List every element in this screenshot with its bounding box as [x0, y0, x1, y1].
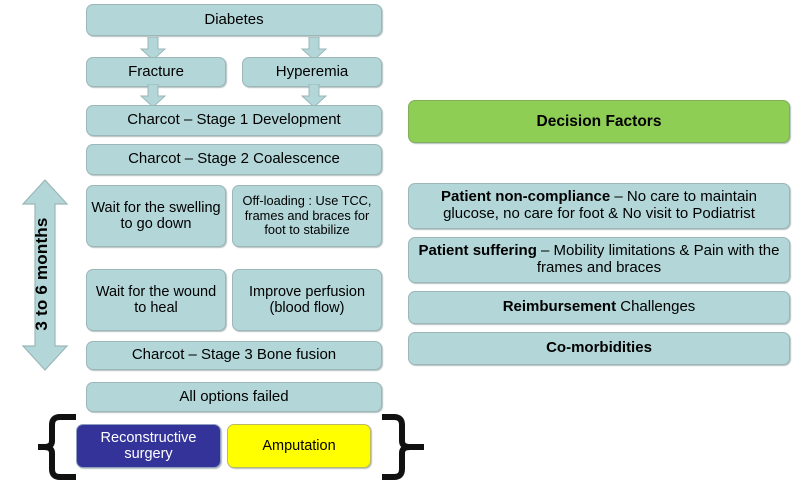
node-wait-swelling-label: Wait for the swelling to go down — [91, 200, 221, 232]
node-all-options-failed-label: All options failed — [179, 389, 288, 406]
node-improve-perfusion[interactable]: Improve perfusion (blood flow) — [232, 269, 382, 331]
node-off-loading[interactable]: Off-loading : Use TCC, frames and braces… — [232, 185, 382, 247]
factor-co-morbidities-text: Co-morbidities — [546, 340, 652, 357]
left-curly-brace — [38, 414, 80, 480]
node-wait-wound-label: Wait for the wound to heal — [91, 284, 221, 316]
factor-reimbursement-challenges[interactable]: Reimbursement Challenges — [408, 291, 790, 324]
factor-1-bold: Patient non-compliance — [441, 188, 610, 205]
factor-patient-non-compliance[interactable]: Patient non-compliance – No care to main… — [408, 183, 790, 229]
duration-double-arrow: 3 to 6 months — [20, 178, 70, 372]
node-charcot-stage-3-label: Charcot – Stage 3 Bone fusion — [132, 347, 336, 364]
factor-reimbursement-challenges-text: Reimbursement Challenges — [503, 299, 696, 316]
node-charcot-stage-1[interactable]: Charcot – Stage 1 Development — [86, 105, 382, 136]
node-hyperemia-label: Hyperemia — [276, 64, 349, 81]
node-fracture-label: Fracture — [128, 64, 184, 81]
node-wait-wound[interactable]: Wait for the wound to heal — [86, 269, 226, 331]
node-amputation[interactable]: Amputation — [227, 424, 371, 468]
node-all-options-failed[interactable]: All options failed — [86, 382, 382, 412]
node-wait-swelling[interactable]: Wait for the swelling to go down — [86, 185, 226, 247]
node-diabetes-label: Diabetes — [204, 12, 263, 29]
node-reconstructive-surgery-label: Reconstructive surgery — [81, 430, 216, 462]
decision-factors-header[interactable]: Decision Factors — [408, 100, 790, 143]
right-curly-brace — [380, 414, 426, 480]
node-charcot-stage-3[interactable]: Charcot – Stage 3 Bone fusion — [86, 341, 382, 370]
node-improve-perfusion-label: Improve perfusion (blood flow) — [237, 284, 377, 316]
factor-patient-suffering[interactable]: Patient suffering – Mobility limitations… — [408, 237, 790, 283]
factor-3-rest: Challenges — [616, 298, 695, 315]
diagram-canvas: Diabetes Fracture Hyperemia Charcot – St… — [0, 0, 800, 485]
factor-3-bold: Reimbursement — [503, 298, 616, 315]
factor-patient-suffering-text: Patient suffering – Mobility limitations… — [413, 243, 785, 277]
node-diabetes[interactable]: Diabetes — [86, 4, 382, 36]
node-hyperemia[interactable]: Hyperemia — [242, 57, 382, 87]
factor-co-morbidities[interactable]: Co-morbidities — [408, 332, 790, 365]
node-fracture[interactable]: Fracture — [86, 57, 226, 87]
factor-patient-non-compliance-text: Patient non-compliance – No care to main… — [413, 189, 785, 223]
node-charcot-stage-1-label: Charcot – Stage 1 Development — [127, 112, 340, 129]
factor-2-rest: – Mobility limitations & Pain with the f… — [537, 242, 780, 276]
node-amputation-label: Amputation — [262, 438, 335, 454]
factor-2-bold: Patient suffering — [419, 242, 537, 259]
node-reconstructive-surgery[interactable]: Reconstructive surgery — [76, 424, 221, 468]
node-off-loading-label: Off-loading : Use TCC, frames and braces… — [237, 194, 377, 238]
decision-factors-header-label: Decision Factors — [537, 113, 662, 130]
factor-4-bold: Co-morbidities — [546, 339, 652, 356]
node-charcot-stage-2-label: Charcot – Stage 2 Coalescence — [128, 151, 340, 168]
duration-label: 3 to 6 months — [20, 178, 64, 370]
node-charcot-stage-2[interactable]: Charcot – Stage 2 Coalescence — [86, 144, 382, 175]
